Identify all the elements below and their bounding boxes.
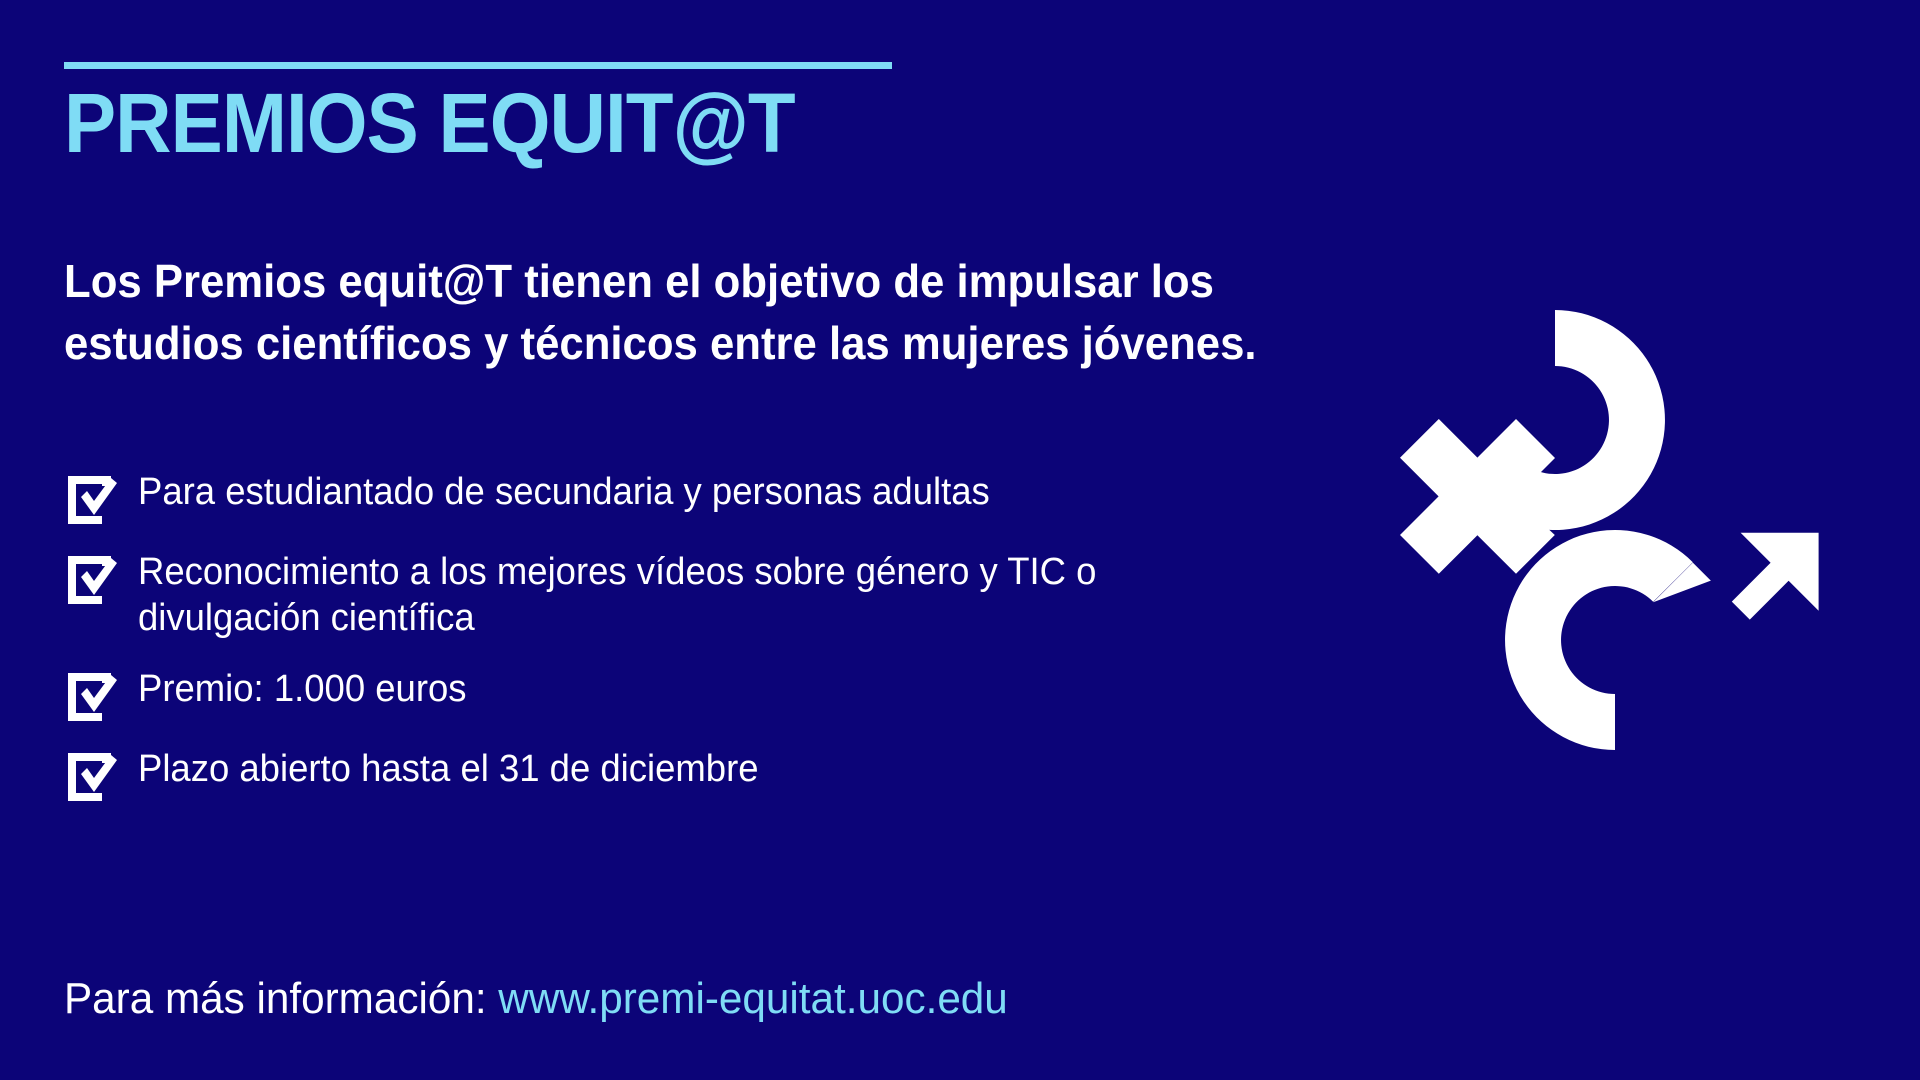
list-item: Premio: 1.000 euros [62,667,1332,721]
checkbox-checked-icon [62,472,118,524]
mars-symbol [1505,530,1819,750]
footer-info: Para más información: www.premi-equitat.… [64,975,1008,1023]
lead-line-2: estudios científicos y técnicos entre la… [64,312,1309,374]
footer-label: Para más información: [64,974,498,1023]
venus-mars-gender-symbols-icon [1350,290,1820,770]
lead-line-1: Los Premios equit@T tienen el objetivo d… [64,250,1309,312]
list-item-label: Reconocimiento a los mejores vídeos sobr… [138,550,1271,641]
list-item: Para estudiantado de secundaria y person… [62,470,1332,524]
list-item-label: Para estudiantado de secundaria y person… [138,470,990,516]
list-item-label: Plazo abierto hasta el 31 de diciembre [138,747,759,793]
title-block: PREMIOS EQUIT@T [64,62,904,164]
checkbox-checked-icon [62,669,118,721]
list-item: Plazo abierto hasta el 31 de diciembre [62,747,1332,801]
website-url[interactable]: www.premi-equitat.uoc.edu [498,974,1007,1023]
title-divider [64,62,892,69]
page-title: PREMIOS EQUIT@T [64,83,845,164]
lead-paragraph: Los Premios equit@T tienen el objetivo d… [64,250,1309,374]
list-item: Reconocimiento a los mejores vídeos sobr… [62,550,1332,641]
list-item-label: Premio: 1.000 euros [138,667,467,713]
poster-canvas: PREMIOS EQUIT@T Los Premios equit@T tien… [0,0,1920,1080]
bullet-list: Para estudiantado de secundaria y person… [62,470,1332,801]
checkbox-checked-icon [62,749,118,801]
checkbox-checked-icon [62,552,118,604]
